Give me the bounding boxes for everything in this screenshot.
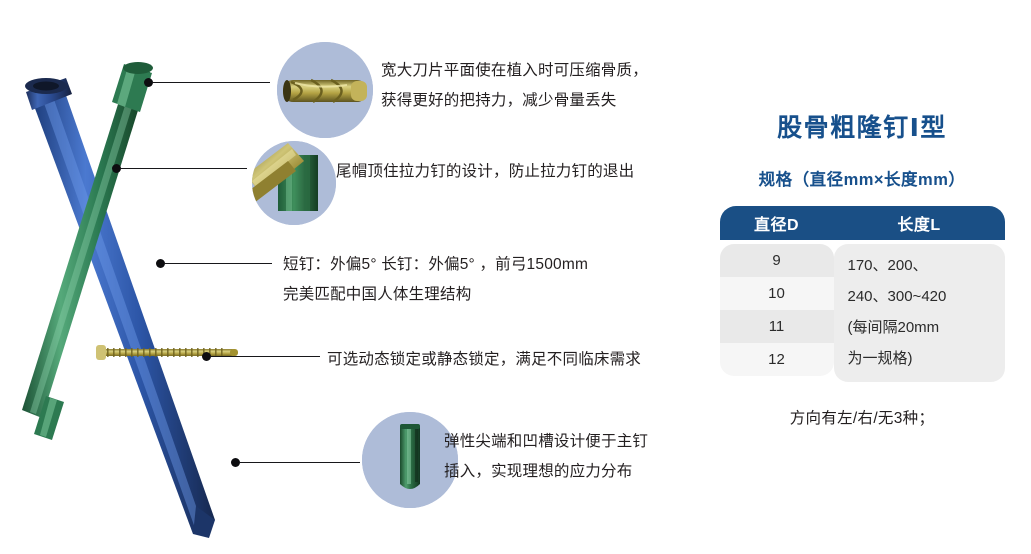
distal-locking-screw-group — [96, 345, 238, 360]
table-row: 10 — [720, 277, 834, 310]
length-line: 170、200、 — [848, 250, 1005, 281]
callout-text-dynamic-static-locking: 可选动态锁定或静态锁定，满足不同临床需求 — [327, 345, 707, 375]
end-cap-detail-bubble — [252, 141, 336, 225]
spec-header-diameter: 直径D — [720, 211, 834, 235]
callout-line-dynamic-static-locking — [210, 356, 320, 357]
specification-panel: 股骨粗隆钉Ⅰ型 规格（直径mm×长度mm） 直径D 长度L 9 10 11 12… — [712, 108, 1012, 428]
callout-line-end-cap-lock — [120, 168, 247, 169]
spec-header-length: 长度L — [834, 211, 1005, 235]
callout-text-end-cap-lock: 尾帽顶住拉力钉的设计，防止拉力钉的退出 — [336, 157, 706, 187]
table-row: 11 — [720, 310, 834, 343]
callout-line-elastic-tip-groove — [239, 462, 360, 463]
spec-subtitle: 规格（直径mm×长度mm） — [712, 166, 1012, 190]
spec-table-body: 9 10 11 12 170、200、 240、300~420 (每间隔20mm… — [720, 244, 1005, 382]
spec-title: 股骨粗隆钉Ⅰ型 — [712, 108, 1012, 144]
diameter-column: 9 10 11 12 — [720, 244, 834, 382]
helical-blade-detail-bubble — [277, 42, 373, 138]
spec-direction-note: 方向有左/右/无3种； — [712, 406, 1012, 428]
callout-text-angle-geometry: 短钉：外偏5° 长钉：外偏5° ，前弓1500mm 完美匹配中国人体生理结构 — [283, 250, 673, 310]
callout-line-angle-geometry — [164, 263, 272, 264]
length-column: 170、200、 240、300~420 (每间隔20mm 为一规格) — [834, 244, 1005, 382]
callout-line-blade-compression — [152, 82, 270, 83]
product-spec-sheet: 宽大刀片平面使在植入时可压缩骨质， 获得更好的把持力，减少骨量丢失 尾帽顶住拉力… — [0, 0, 1031, 554]
length-line: 240、300~420 — [848, 281, 1005, 312]
callout-text-elastic-tip-groove: 弹性尖端和凹槽设计便于主钉 插入，实现理想的应力分布 — [444, 427, 724, 487]
table-row: 12 — [720, 343, 834, 376]
length-line: 为一规格) — [848, 343, 1005, 374]
length-line: (每间隔20mm — [848, 312, 1005, 343]
table-row: 9 — [720, 244, 834, 277]
spec-table: 直径D 长度L 9 10 11 12 170、200、 240、300~420 … — [720, 206, 1005, 382]
callout-text-blade-compression: 宽大刀片平面使在植入时可压缩骨质， 获得更好的把持力，减少骨量丢失 — [381, 56, 711, 116]
spec-table-header-row: 直径D 长度L — [720, 206, 1005, 240]
